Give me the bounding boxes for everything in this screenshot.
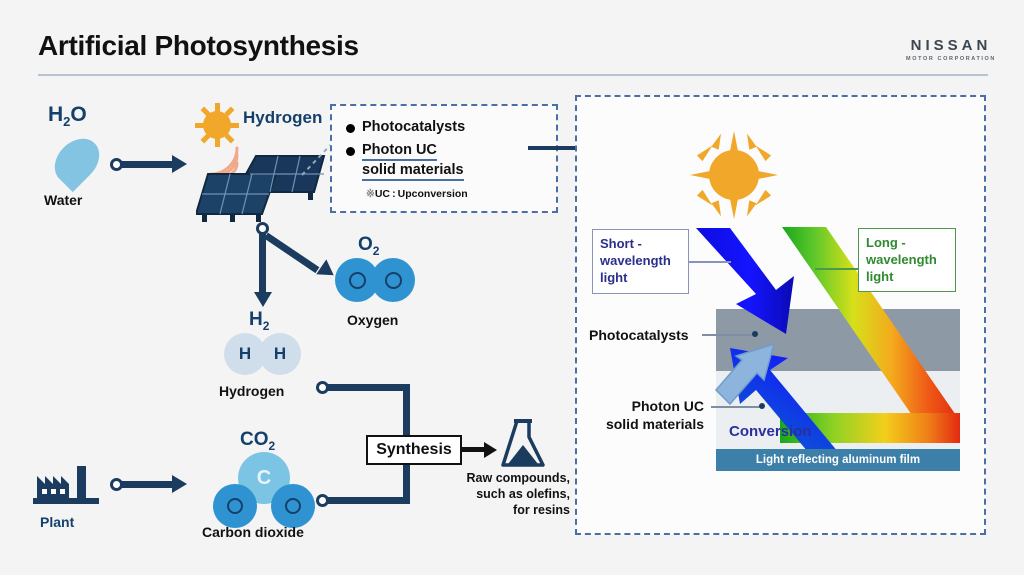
split-down-line (259, 232, 266, 294)
co2-oxygen-atom-2 (271, 484, 315, 528)
plant-connector-arrow (172, 475, 187, 493)
o2-formula-sub: 2 (373, 244, 380, 258)
hydrogen-atom-2-text: H (274, 344, 286, 364)
raw-compounds-line2: such as olefins, (452, 486, 570, 502)
o2-formula: O2 (358, 234, 379, 258)
photon-uc-leader (711, 406, 761, 408)
hydrogen-pipe-h (326, 384, 410, 391)
bullet-dot-icon (346, 124, 355, 133)
split-diagonal-line (264, 233, 319, 273)
title-divider (38, 74, 988, 76)
co2-oxygen-ring (285, 498, 301, 514)
carbon-dioxide-label: Carbon dioxide (202, 524, 304, 540)
long-wavelength-line1: Long - (866, 235, 955, 252)
co2-oxygen-atom-1 (213, 484, 257, 528)
callout-bullet-2-line2: solid materials (362, 161, 464, 181)
conversion-label: Conversion (729, 423, 812, 440)
photocatalysts-label: Photocatalysts (589, 327, 689, 343)
co2-pipe-v (403, 464, 410, 504)
photon-uc-label-line1: Photon UC (589, 398, 704, 416)
callout-bullet-1-text: Photocatalysts (362, 118, 465, 136)
oxygen-atom-ring (385, 272, 402, 289)
h2o-formula: H2O (48, 103, 87, 129)
raw-compounds-line3: for resins (452, 502, 570, 518)
hydrogen-molecule-label: Hydrogen (219, 383, 284, 399)
photon-uc-label-line2: solid materials (589, 416, 704, 434)
long-wavelength-line3: light (866, 269, 955, 286)
aluminum-film-label: Light reflecting aluminum film (756, 454, 920, 466)
raw-compounds-line1: Raw compounds, (452, 470, 570, 486)
materials-callout-box: Photocatalysts Photon UC solid materials… (330, 104, 558, 213)
co2-formula: CO2 (240, 429, 275, 453)
logo-sub-text: MOTOR CORPORATION (906, 56, 996, 62)
nissan-logo: NISSAN MOTOR CORPORATION (906, 38, 996, 62)
plant-label: Plant (40, 514, 74, 530)
synthesis-label: Synthesis (376, 441, 452, 459)
hydrogen-top-label: Hydrogen (243, 108, 322, 128)
page-title: Artificial Photosynthesis (38, 30, 359, 62)
long-wavelength-box: Long - wavelength light (858, 228, 956, 292)
h2-formula-sub: 2 (263, 319, 270, 333)
short-wavelength-line3: light (600, 270, 688, 287)
slide-canvas: Artificial Photosynthesis NISSAN MOTOR C… (0, 0, 1024, 575)
callout-note-text: UC : Upconversion (375, 188, 468, 200)
logo-brand-text: NISSAN (906, 38, 996, 53)
flask-icon (500, 418, 546, 470)
h2o-formula-h: H (48, 103, 63, 126)
photon-uc-label: Photon UC solid materials (589, 398, 704, 433)
sun-icon-panel (692, 133, 776, 217)
hydrogen-atom-1-text: H (239, 344, 251, 364)
co2-formula-co: CO (240, 429, 269, 450)
water-label: Water (44, 192, 82, 208)
callout-bullet-2: Photon UC solid materials (346, 141, 556, 181)
h2-formula: H2 (249, 309, 269, 333)
callout-bullet-2-line1: Photon UC (362, 141, 437, 161)
bullet-dot-icon (346, 147, 355, 156)
sun-core-panel (709, 150, 759, 200)
short-wavelength-leader (689, 261, 731, 263)
long-wavelength-line2: wavelength (866, 252, 955, 269)
co2-pipe-h (326, 497, 410, 504)
hydrogen-atom-2: H (259, 333, 301, 375)
water-connector-arrow (172, 155, 187, 173)
h2-formula-h: H (249, 309, 263, 330)
co2-formula-sub: 2 (269, 439, 276, 453)
oxygen-label: Oxygen (347, 312, 398, 328)
photocatalysts-leader-dot (752, 331, 758, 337)
synthesis-box[interactable]: Synthesis (366, 435, 462, 465)
h2o-formula-o: O (70, 103, 86, 126)
raw-compounds-text: Raw compounds, such as olefins, for resi… (452, 470, 570, 518)
water-connector-line (120, 161, 172, 168)
photocatalysts-leader (702, 334, 754, 336)
photon-uc-leader-dot (759, 403, 765, 409)
callout-bullet-1: Photocatalysts (346, 118, 556, 136)
short-wavelength-line1: Short - (600, 236, 688, 253)
carbon-atom-text: C (257, 467, 271, 490)
synthesis-out-arrow (484, 442, 497, 458)
short-wavelength-line2: wavelength (600, 253, 688, 270)
short-wavelength-box: Short - wavelength light (592, 229, 689, 294)
water-droplet-icon (46, 130, 108, 192)
conversion-beam (700, 318, 860, 468)
hydrogen-pipe-v (403, 384, 410, 436)
callout-note: ※UC : Upconversion (366, 188, 556, 200)
o2-formula-o: O (358, 234, 373, 255)
plant-connector-line (120, 481, 172, 488)
plant-factory-icon (33, 458, 103, 508)
split-down-arrow (254, 292, 272, 307)
oxygen-atom-ring (349, 272, 366, 289)
aluminum-film-bar: Light reflecting aluminum film (716, 449, 960, 471)
co2-oxygen-ring (227, 498, 243, 514)
oxygen-atom-2 (371, 258, 415, 302)
long-wavelength-leader (815, 268, 859, 270)
note-mark-icon: ※ (366, 188, 375, 200)
synthesis-out-line (462, 447, 484, 452)
